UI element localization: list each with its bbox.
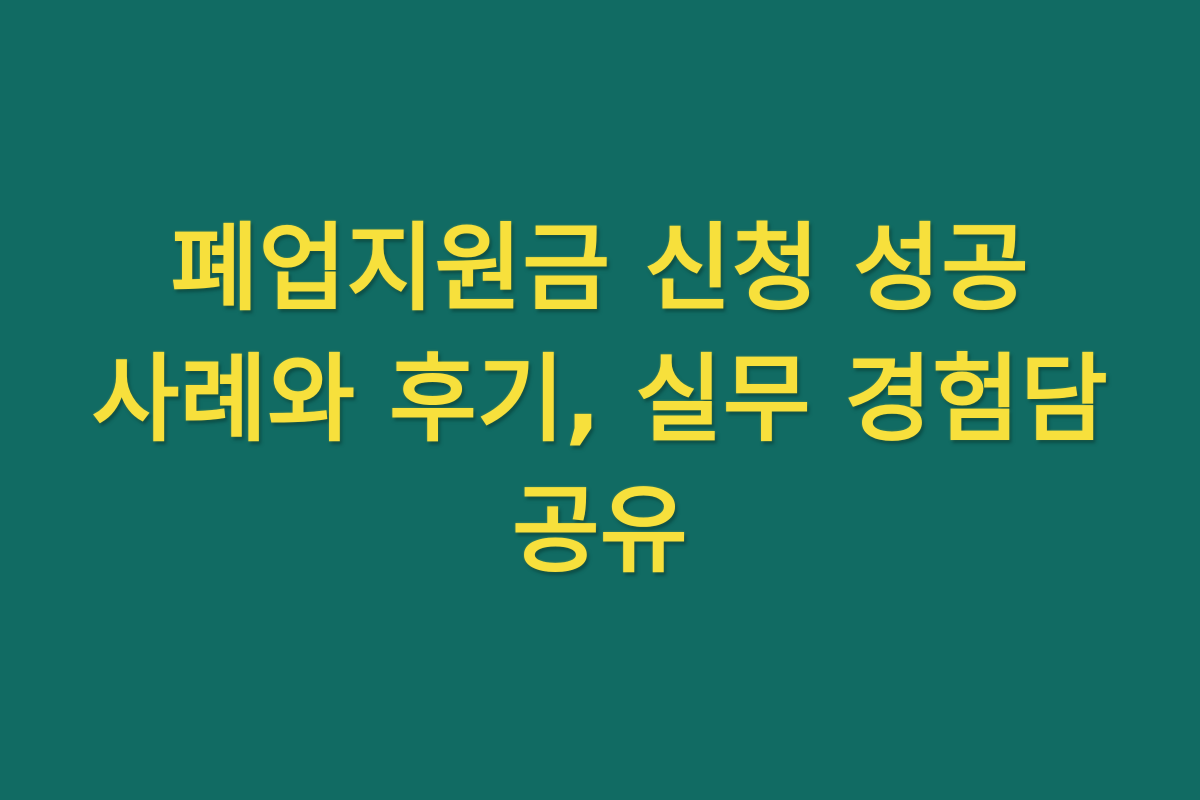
headline-block: 폐업지원금 신청 성공 사례와 후기, 실무 경험담 공유 [80,204,1120,597]
page-title: 폐업지원금 신청 성공 사례와 후기, 실무 경험담 공유 [88,204,1112,597]
headline-text: 폐업지원금 신청 성공 사례와 후기, 실무 경험담 공유 [92,214,1108,586]
thumbnail-card: 폐업지원금 신청 성공 사례와 후기, 실무 경험담 공유 [0,0,1200,800]
